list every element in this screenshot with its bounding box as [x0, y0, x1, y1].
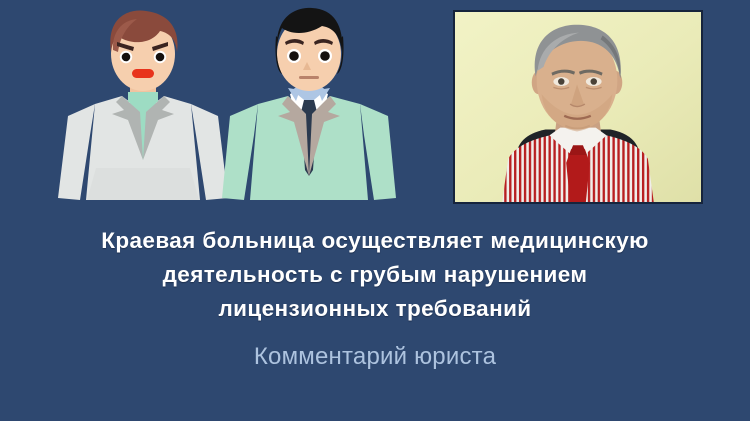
- female-doctor-illustration: [58, 10, 228, 200]
- caption-block: Краевая больница осуществляет медицинску…: [0, 224, 750, 372]
- male-doctor-illustration: [222, 8, 396, 200]
- title-line-2: деятельность с грубым нарушением: [0, 258, 750, 292]
- video-thumbnail-slide: Краевая больница осуществляет медицинску…: [0, 0, 750, 421]
- lawyer-portrait-photo: [453, 10, 703, 204]
- title-line-1: Краевая больница осуществляет медицинску…: [0, 224, 750, 258]
- title-line-3: лицензионных требований: [0, 292, 750, 326]
- portrait-image: [455, 12, 701, 202]
- doctors-illustration: [0, 0, 460, 215]
- subtitle-text: Комментарий юриста: [0, 342, 750, 372]
